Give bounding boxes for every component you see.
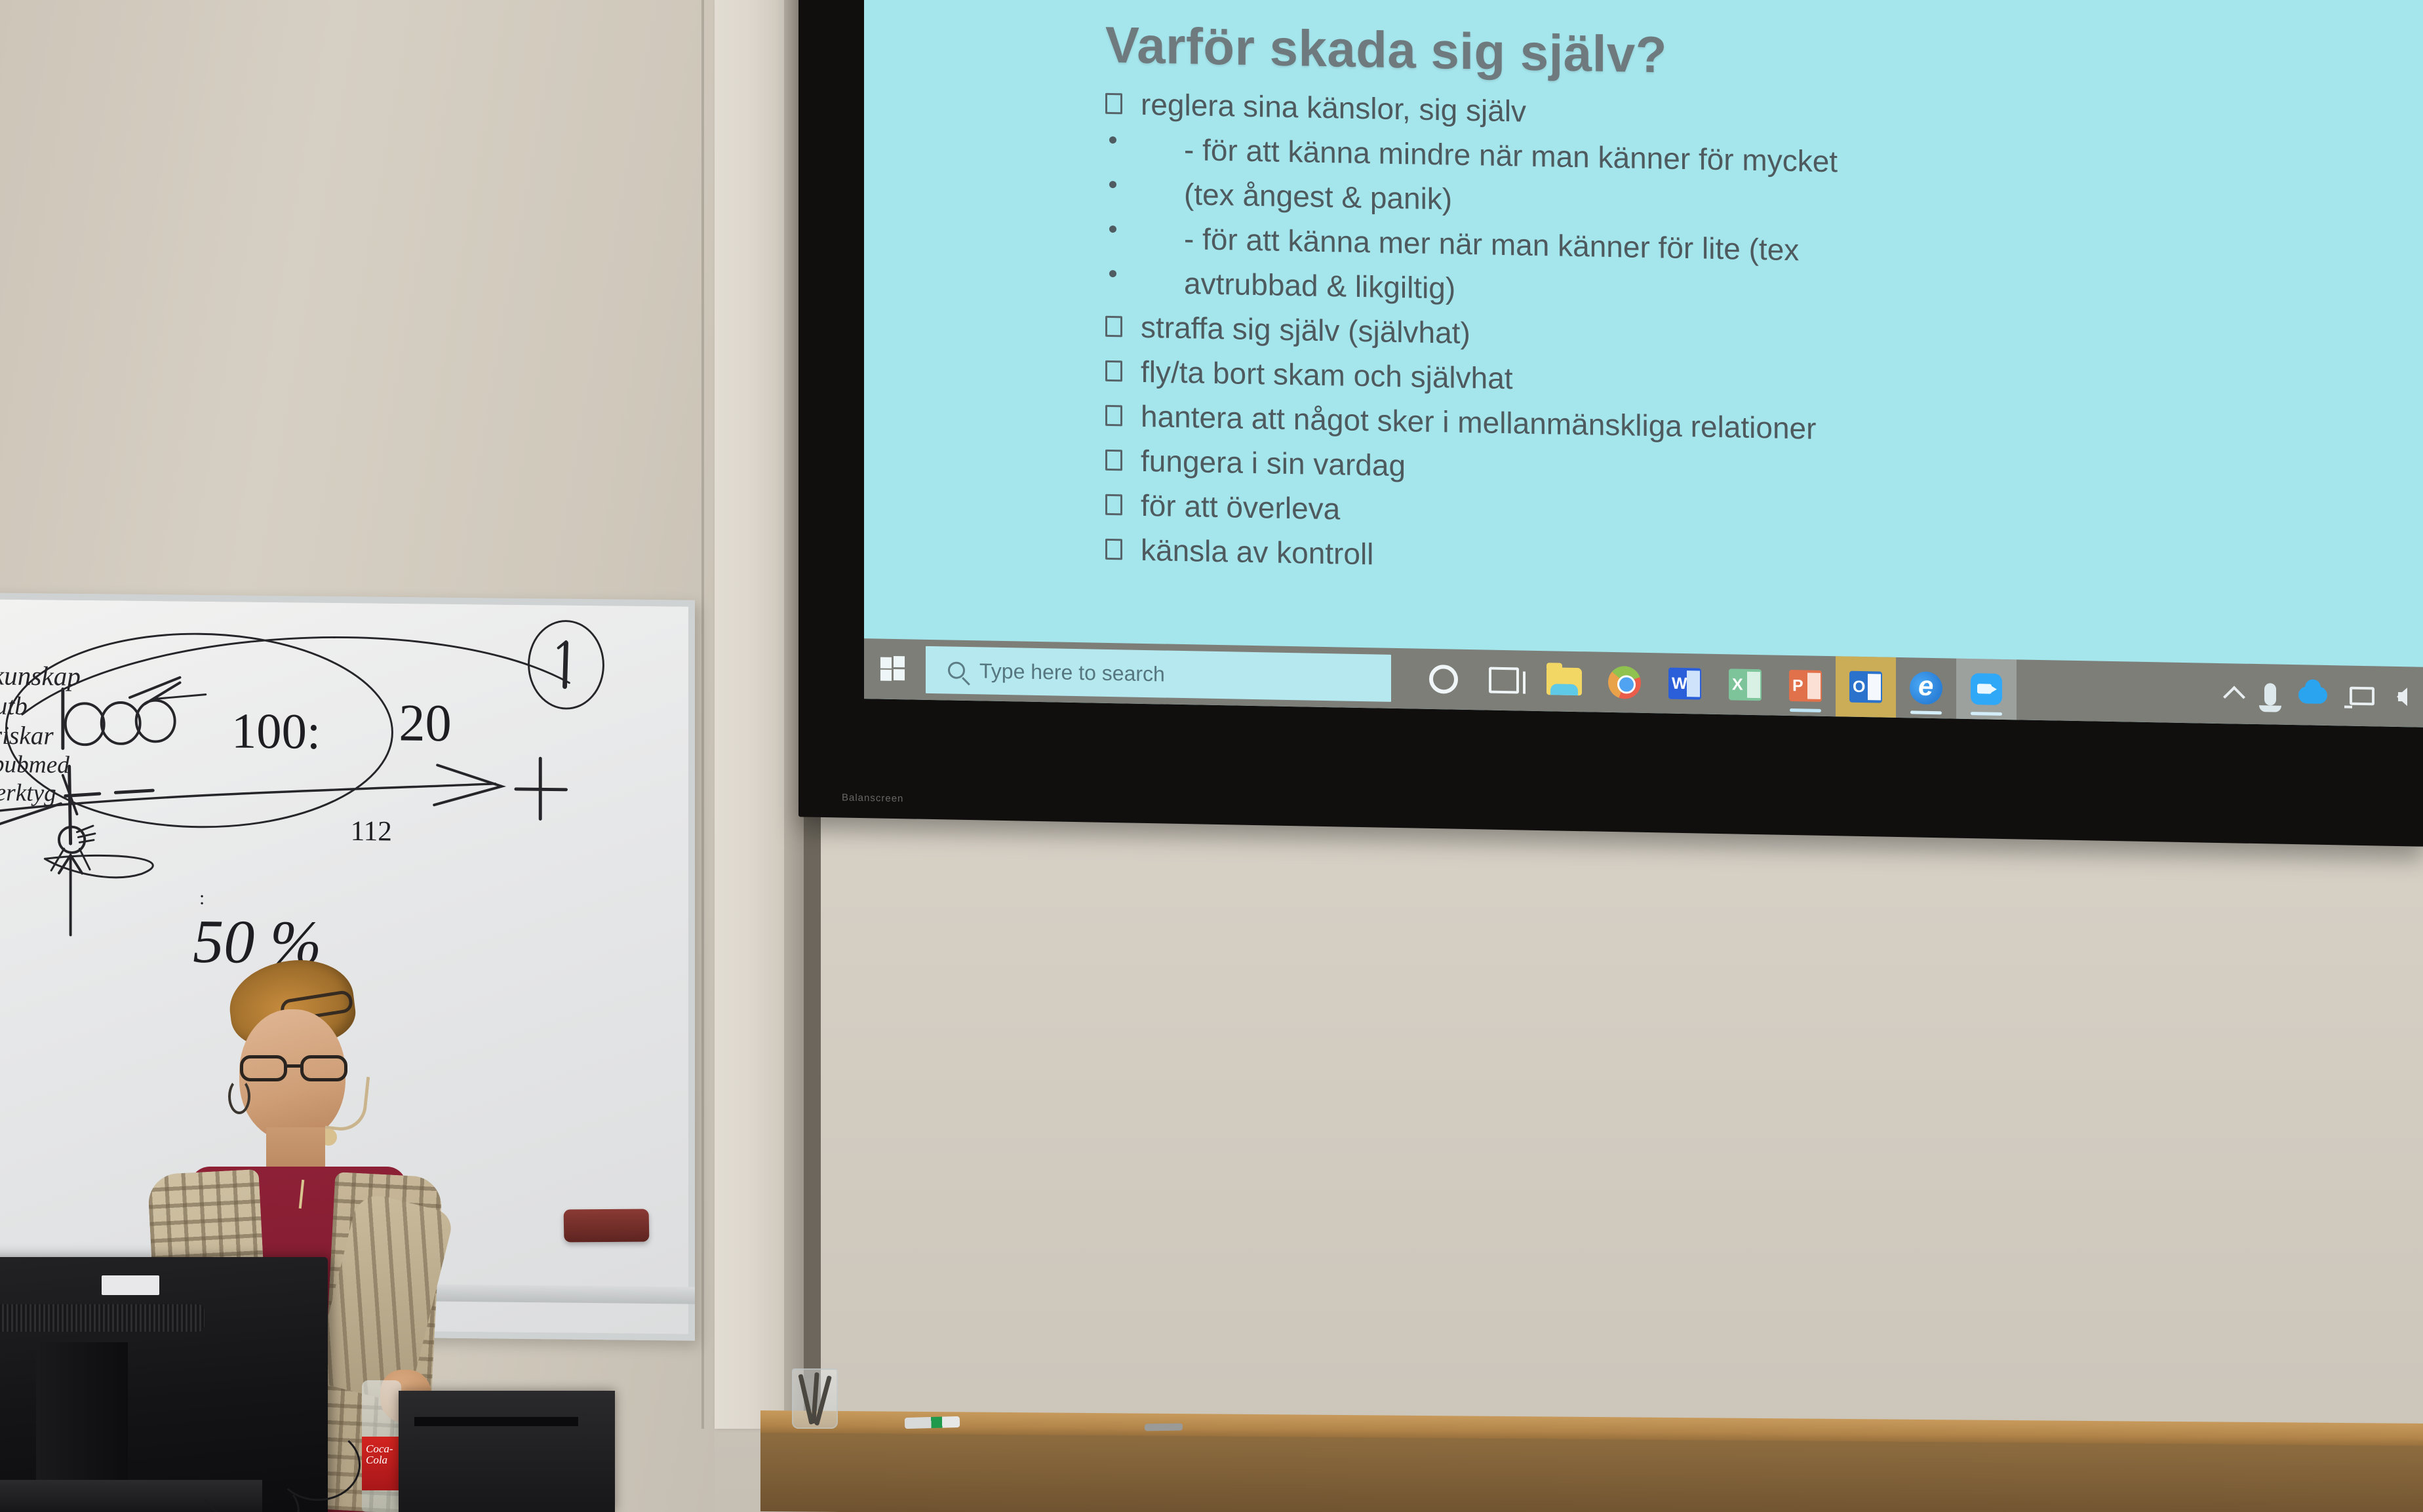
wall-pillar: [715, 0, 787, 1429]
slide-bullet-text: för att överleva: [1141, 490, 1340, 524]
taskbar-item-zoom[interactable]: [1956, 659, 2017, 720]
word-icon: W: [1668, 668, 1701, 700]
whiteboard-marker-cup: [792, 1368, 838, 1429]
coca-cola-bottle: Coca-Cola: [362, 1380, 401, 1512]
checkbox-bullet-icon: [1105, 356, 1128, 384]
taskbar-item-task-view[interactable]: [1474, 649, 1534, 711]
slide-bullet: - för att känna mer när man känner för l…: [1105, 222, 2351, 275]
wb-note-riskar: riskar: [0, 722, 54, 750]
coca-cola-label: Coca-Cola: [362, 1437, 401, 1490]
slide-bullet-text: fly/ta bort skam och självhat: [1141, 357, 1513, 393]
powerpoint-slide: School of Health and Welfare Varför skad…: [864, 0, 2423, 727]
taskbar-item-excel[interactable]: X: [1715, 654, 1775, 716]
ledge-front: [760, 1433, 2423, 1512]
dot-bullet-icon: [1105, 133, 1128, 156]
monitor-sticker: [102, 1275, 159, 1295]
wb-note-verktyg: verktyg: [0, 779, 56, 807]
projected-slide-surface: School of Health and Welfare Varför skad…: [864, 0, 2423, 727]
network-icon[interactable]: [2350, 687, 2374, 706]
slide-bullet: för att överleva: [1105, 490, 2351, 543]
start-button[interactable]: [864, 638, 923, 700]
taskbar-item-chrome[interactable]: [1594, 652, 1655, 714]
slide-bullet-text: - för att känna mer när man känner för l…: [1141, 223, 1799, 265]
slide-bullet-text: (tex ångest & panik): [1141, 178, 1452, 214]
slide-bullet: känsla av kontroll: [1105, 534, 2351, 587]
taskbar-item-file-explorer[interactable]: [1534, 651, 1594, 712]
green-whiteboard-marker: [905, 1416, 960, 1429]
slide-bullet-text: straffa sig själv (självhat): [1141, 312, 1470, 348]
checkbox-bullet-icon: [1105, 445, 1128, 473]
powerpoint-icon: P: [1789, 670, 1822, 702]
cortana-icon: [1429, 665, 1458, 694]
taskbar-item-cortana[interactable]: [1413, 648, 1474, 710]
slide-bullet: avtrubbad & likgiltig): [1105, 267, 2351, 320]
pc-tower: [399, 1391, 615, 1512]
dot-bullet-icon: [1105, 222, 1128, 245]
search-icon: [948, 661, 965, 678]
taskbar-item-edge[interactable]: [1896, 657, 1956, 719]
excel-icon: X: [1729, 669, 1762, 701]
dot-bullet-icon: [1105, 178, 1128, 201]
slide-bullet: (tex ångest & panik): [1105, 178, 2351, 231]
microphone-icon[interactable]: [2264, 683, 2276, 705]
taskbar-item-word[interactable]: W: [1655, 653, 1715, 714]
search-input[interactable]: Type here to search: [926, 646, 1391, 702]
slide-bullet-text: fungera i sin vardag: [1141, 446, 1406, 480]
slide-bullet: fungera i sin vardag: [1105, 445, 2351, 498]
slide-bullet-text: reglera sina känslor, sig själv: [1141, 89, 1526, 126]
small-pen: [1145, 1423, 1183, 1431]
slide-bullet-list: reglera sina känslor, sig själv- för att…: [1105, 88, 2351, 602]
wb-note-pubmed: pubmed: [0, 751, 69, 779]
task-view-icon: [1489, 667, 1519, 694]
dot-bullet-icon: [1105, 267, 1128, 290]
taskbar-item-powerpoint[interactable]: P: [1775, 655, 1836, 717]
slide-bullet: fly/ta bort skam och självhat: [1105, 356, 2351, 409]
headset-mic-arm: [325, 1073, 370, 1133]
slide-bullet: - för att känna mindre när man känner fö…: [1105, 133, 2351, 186]
whiteboard-eraser: [564, 1209, 650, 1243]
slide-bullet-text: känsla av kontroll: [1141, 535, 1373, 570]
slide-bullet-text: hantera att något sker i mellanmänskliga…: [1141, 401, 1816, 444]
system-tray: [2226, 682, 2423, 708]
wb-figure-100: 100:: [231, 703, 321, 760]
hoop-earring: [228, 1079, 250, 1114]
checkbox-bullet-icon: [1105, 400, 1128, 429]
outlook-icon: O: [1849, 671, 1882, 703]
chrome-icon: [1608, 666, 1641, 699]
wb-figure-20: 20: [399, 693, 451, 752]
wb-note-kunskap: kunskap: [0, 660, 81, 691]
zoom-icon: [1971, 673, 2002, 705]
coca-cola-wordmark: Coca-Cola: [366, 1443, 401, 1465]
volume-icon[interactable]: [2397, 688, 2407, 706]
wb-figure-dots: :: [199, 888, 205, 909]
taskbar-pinned-icons: W X P O: [1413, 648, 2017, 720]
taskbar-item-outlook[interactable]: O: [1836, 656, 1896, 718]
wall-seam-left: [701, 0, 704, 1429]
monitor-stand: [36, 1342, 128, 1500]
monitor-vent: [0, 1304, 205, 1332]
windows-logo-icon: [880, 656, 907, 683]
slide-title: Varför skada sig själv?: [1105, 15, 1667, 85]
checkbox-bullet-icon: [1105, 88, 1128, 117]
checkbox-bullet-icon: [1105, 490, 1128, 518]
wb-figure-112: 112: [351, 816, 392, 847]
pc-drive-slot: [414, 1417, 578, 1426]
checkbox-bullet-icon: [1105, 534, 1128, 562]
checkbox-bullet-icon: [1105, 311, 1128, 339]
edge-icon: [1910, 671, 1942, 705]
lecture-hall-scene: Balanscreen School of Health and Welfare…: [0, 0, 2423, 1512]
screen-brand-label: Balanscreen: [842, 792, 903, 804]
slide-bullet: hantera att något sker i mellanmänskliga…: [1105, 400, 2351, 454]
show-hidden-icons-icon[interactable]: [2223, 686, 2245, 708]
slide-bullet-text: avtrubbad & likgiltig): [1141, 267, 1455, 303]
slide-bullet: reglera sina känslor, sig själv: [1105, 88, 2351, 142]
search-placeholder: Type here to search: [979, 659, 1165, 686]
wb-note-utb: utb: [0, 692, 28, 721]
slide-bullet: straffa sig själv (självhat): [1105, 311, 2351, 364]
file-explorer-icon: [1546, 667, 1582, 695]
onedrive-icon[interactable]: [2298, 686, 2327, 704]
slide-bullet-text: - för att känna mindre när man känner fö…: [1141, 134, 1838, 176]
